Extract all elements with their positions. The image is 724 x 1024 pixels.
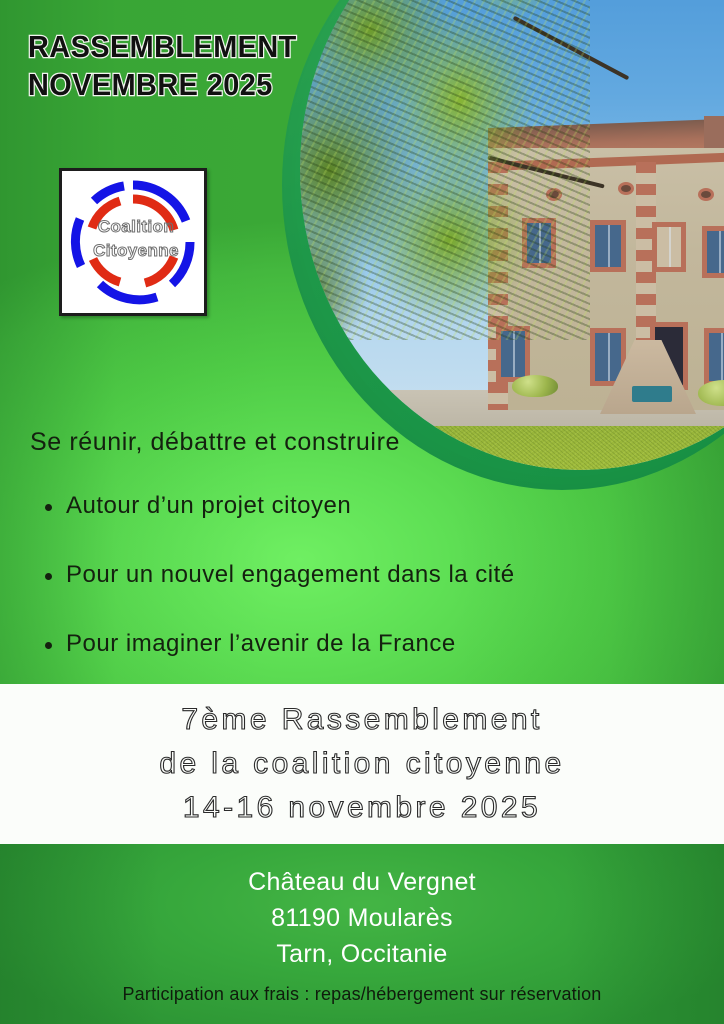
headline-line-2: NOVEMBRE 2025 <box>28 66 307 104</box>
photo-window <box>702 226 724 278</box>
logo-text-line-2: Citoyenne <box>62 239 210 263</box>
list-item: Pour imaginer l’avenir de la France <box>45 630 685 658</box>
venue-line-1: Château du Vergnet <box>0 864 724 900</box>
logo-text: Coalition Citoyenne <box>62 215 210 263</box>
poster-canvas: RASSEMBLEMENT NOVEMBRE 2025 <box>0 0 724 1024</box>
bullet-list: Autour d’un projet citoyen Pour un nouve… <box>45 492 685 699</box>
photo-window <box>590 220 626 272</box>
photo-blind-window <box>652 222 686 272</box>
photo-bench <box>632 386 672 402</box>
poster-headline: RASSEMBLEMENT NOVEMBRE 2025 <box>28 28 328 104</box>
list-item: Autour d’un projet citoyen <box>45 492 685 520</box>
venue-line-2: 81190 Moularès <box>0 900 724 936</box>
photo-chimney <box>704 116 724 150</box>
headline-line-1: RASSEMBLEMENT <box>28 28 307 66</box>
coalition-citoyenne-logo: Coalition Citoyenne <box>59 168 207 316</box>
event-title-line-3: 14-16 novembre 2025 <box>0 786 724 830</box>
intro-text: Se réunir, débattre et construire <box>30 428 400 457</box>
chateau-photo-content <box>300 0 724 470</box>
event-title-band: 7ème Rassemblement de la coalition citoy… <box>0 684 724 844</box>
logo-text-line-1: Coalition <box>62 215 210 239</box>
photo-shrub <box>512 375 558 397</box>
photo-window <box>704 328 724 386</box>
venue-line-3: Tarn, Occitanie <box>0 936 724 972</box>
event-title-line-1: 7ème Rassemblement <box>0 698 724 742</box>
event-title: 7ème Rassemblement de la coalition citoy… <box>0 698 724 830</box>
venue-band: Château du Vergnet 81190 Moularès Tarn, … <box>0 844 724 1024</box>
photo-oculus <box>618 182 634 195</box>
chateau-photo <box>300 0 724 470</box>
participation-note: Participation aux frais : repas/hébergem… <box>0 984 724 1005</box>
list-item: Pour un nouvel engagement dans la cité <box>45 561 685 589</box>
event-title-line-2: de la coalition citoyenne <box>0 742 724 786</box>
photo-tree <box>300 0 590 340</box>
venue-address: Château du Vergnet 81190 Moularès Tarn, … <box>0 864 724 972</box>
photo-oculus <box>698 188 714 201</box>
